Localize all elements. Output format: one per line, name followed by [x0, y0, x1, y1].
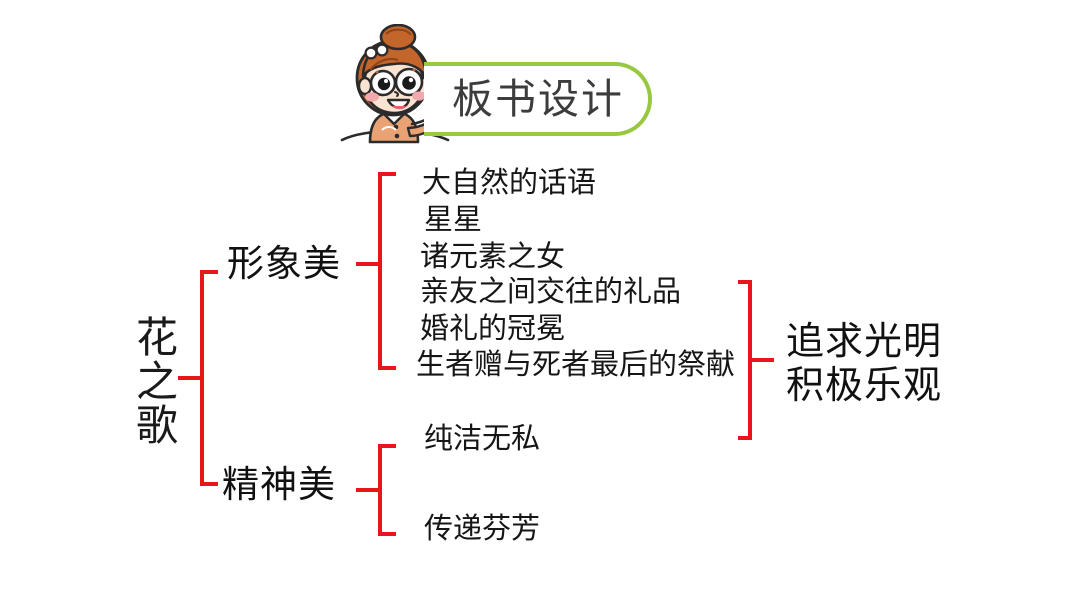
bracket-arm-top — [378, 444, 396, 448]
root-char-1: 花 — [130, 316, 184, 360]
conclusion-block: 追求光明 积极乐观 — [786, 320, 942, 408]
bracket-arm-bottom — [378, 366, 396, 370]
bracket-root — [192, 270, 222, 486]
root-char-3: 歌 — [130, 404, 184, 448]
branch-label-jingshenmei: 精神美 — [222, 464, 336, 506]
leaf-item: 大自然的话语 — [422, 166, 596, 200]
root-char-2: 之 — [130, 360, 184, 404]
page-title: 板书设计 — [452, 74, 624, 124]
header-band: 板书设计 — [0, 0, 1080, 160]
leaf-item: 传递芬芳 — [424, 512, 540, 546]
root-node-hua-zhi-ge: 花 之 歌 — [130, 316, 184, 448]
leaf-item: 星星 — [424, 203, 482, 237]
conclusion-line-1: 追求光明 — [786, 320, 942, 364]
bracket-stem — [356, 488, 378, 492]
bracket-jingshenmei — [370, 444, 400, 536]
leaf-item: 诸元素之女 — [420, 240, 565, 274]
bracket-arm-bottom — [738, 436, 752, 440]
bracket-stem — [356, 262, 378, 266]
bracket-spine — [200, 270, 204, 486]
slide-canvas: 板书设计 花 之 歌 形象美 大自然的话语 星星 诸元素之女 亲友之间交往的礼品… — [0, 0, 1080, 608]
leaf-item: 婚礼的冠冕 — [420, 312, 565, 346]
bracket-stem — [752, 358, 774, 362]
branch-label-xingxiangmei: 形象美 — [227, 243, 341, 285]
leaf-item: 亲友之间交往的礼品 — [420, 275, 681, 309]
bracket-spine — [378, 172, 382, 370]
bracket-xingxiangmei — [370, 172, 400, 370]
bracket-stem — [178, 376, 200, 380]
bracket-arm-bottom — [378, 532, 396, 536]
bracket-spine — [378, 444, 382, 536]
bracket-arm-top — [738, 280, 752, 284]
leaf-item: 生者赠与死者最后的祭献 — [416, 348, 735, 382]
bracket-arm-top — [200, 270, 218, 274]
leaf-item: 纯洁无私 — [424, 422, 540, 456]
bracket-arm-bottom — [200, 482, 218, 486]
bracket-arm-top — [378, 172, 396, 176]
bracket-conclusion — [730, 280, 776, 440]
conclusion-line-2: 积极乐观 — [786, 364, 942, 408]
